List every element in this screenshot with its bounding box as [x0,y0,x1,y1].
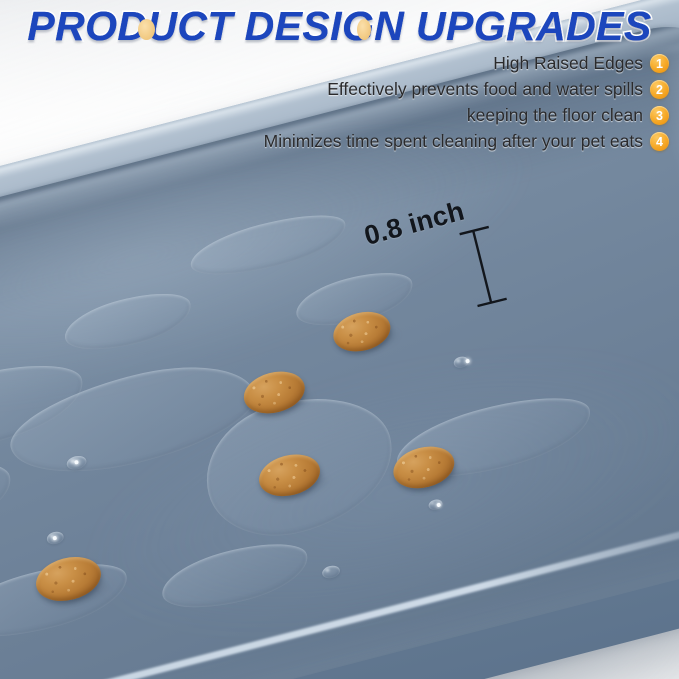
title-counter-o [138,19,155,40]
page-title-fill: PRODUCT DESIGN UPGRADES [0,5,679,48]
feature-badge-1: 1 [650,54,669,73]
feature-list: High Raised Edges 1 Effectively prevents… [0,52,669,153]
list-item: High Raised Edges 1 [493,52,669,75]
feature-badge-2: 2 [650,80,669,99]
feature-badge-3: 3 [650,106,669,125]
feature-text: Minimizes time spent cleaning after your… [264,133,643,151]
feature-text: High Raised Edges [493,55,643,73]
list-item: keeping the floor clean 3 [467,104,669,127]
header: PRODUCT DESIGN UPGRADES PRODUCT DESIGN U… [0,0,679,152]
page-title: PRODUCT DESIGN UPGRADES PRODUCT DESIGN U… [0,5,679,48]
feature-badge-4: 4 [650,132,669,151]
list-item: Minimizes time spent cleaning after your… [264,130,669,153]
feature-text: keeping the floor clean [467,107,643,125]
title-counter-d [357,19,371,40]
feature-text: Effectively prevents food and water spil… [327,81,643,99]
product-infographic: 0.8 inch PRODUCT DESIGN UPGRADES PRODUCT… [0,0,679,679]
list-item: Effectively prevents food and water spil… [327,78,669,101]
